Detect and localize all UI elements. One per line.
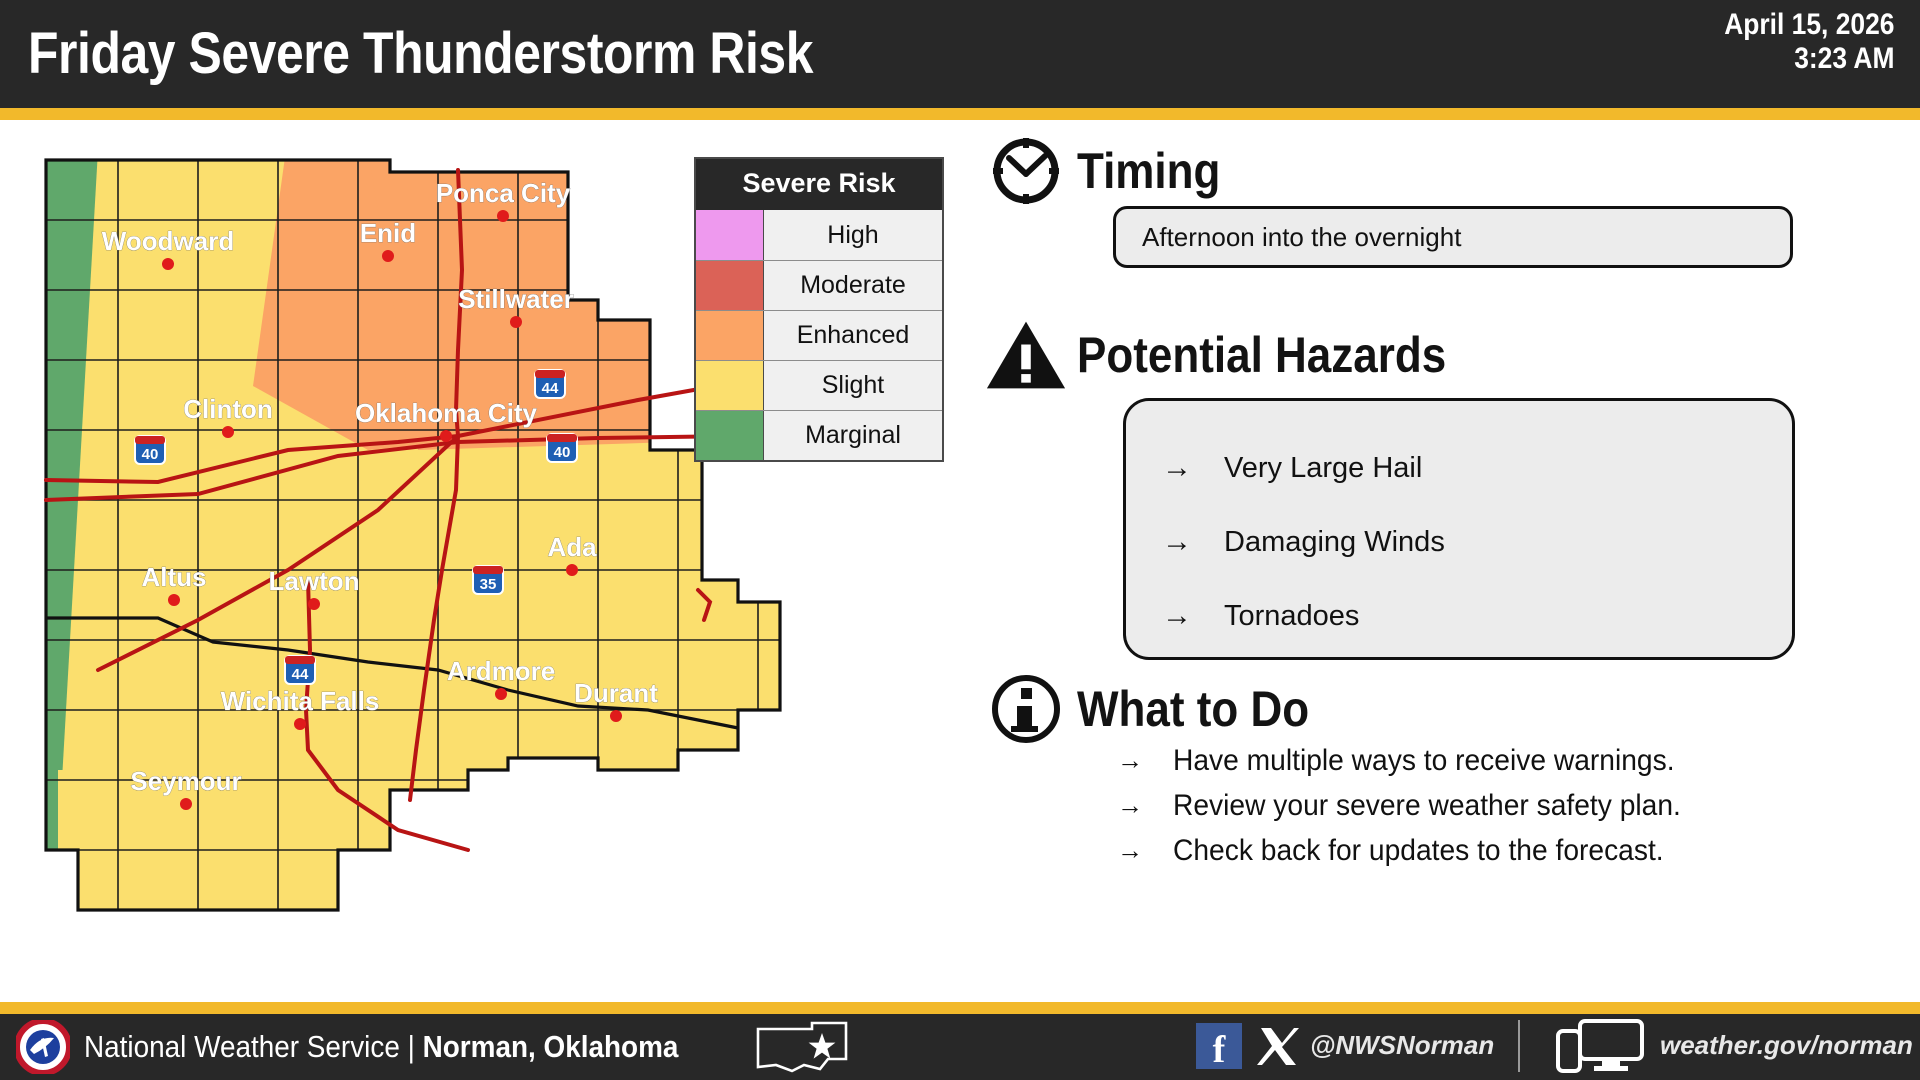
svg-text:44: 44	[292, 666, 309, 683]
clock-icon	[985, 130, 1067, 212]
city-dot	[162, 258, 174, 270]
arrow-icon: →	[1162, 451, 1224, 485]
city-label: Stillwater	[458, 284, 574, 314]
legend-row: Enhanced	[696, 310, 942, 360]
arrow-icon: →	[1162, 525, 1224, 559]
svg-text:40: 40	[554, 444, 571, 461]
header-bar: Friday Severe Thunderstorm Risk April 15…	[0, 0, 1920, 108]
oklahoma-outline-icon	[754, 1021, 850, 1073]
weather-graphic-page: Friday Severe Thunderstorm Risk April 15…	[0, 0, 1920, 1080]
legend-swatch	[696, 411, 764, 460]
city-label: Ardmore	[447, 656, 555, 686]
city-label: Clinton	[183, 394, 273, 424]
website-url[interactable]: weather.gov/norman	[1660, 1030, 1913, 1061]
city-label: Ada	[547, 532, 597, 562]
city-dot	[222, 426, 234, 438]
city-label: Lawton	[269, 566, 360, 596]
legend-rows: HighModerateEnhancedSlightMarginal	[696, 210, 942, 460]
footer-office: Norman, Oklahoma	[423, 1029, 679, 1064]
timing-value: Afternoon into the overnight	[1116, 222, 1461, 253]
hazards-list: →Very Large Hail→Damaging Winds→Tornadoe…	[1126, 431, 1792, 653]
legend-swatch	[696, 261, 764, 310]
gold-accent-bar-bottom	[0, 1002, 1920, 1014]
city-label: Ponca City	[436, 178, 571, 208]
legend-label: Moderate	[764, 261, 942, 310]
gold-accent-bar-top	[0, 108, 1920, 120]
hazard-item: →Tornadoes	[1126, 579, 1792, 653]
todo-item: →Review your severe weather safety plan.	[1117, 783, 1895, 828]
timing-heading: Timing	[1077, 146, 1220, 196]
svg-text:40: 40	[142, 446, 159, 463]
whattodo-list: →Have multiple ways to receive warnings.…	[1117, 738, 1895, 873]
legend-row: High	[696, 210, 942, 260]
todo-label: Check back for updates to the forecast.	[1173, 834, 1664, 868]
legend-row: Marginal	[696, 410, 942, 460]
legend-label: Marginal	[764, 411, 942, 460]
legend-swatch	[696, 311, 764, 360]
city-label: Wichita Falls	[221, 686, 380, 716]
hazards-section-header: Potential Hazards	[985, 314, 1895, 396]
facebook-icon[interactable]: f	[1196, 1023, 1242, 1069]
devices-icon	[1556, 1019, 1648, 1073]
city-dot	[497, 210, 509, 222]
city-dot	[168, 594, 180, 606]
nws-logo-icon	[16, 1020, 70, 1074]
arrow-icon: →	[1162, 599, 1224, 633]
legend-severe-risk: Severe Risk HighModerateEnhancedSlightMa…	[694, 157, 944, 462]
hazard-item: →Very Large Hail	[1126, 431, 1792, 505]
arrow-icon: →	[1117, 745, 1173, 776]
city-dot	[308, 598, 320, 610]
city-label: Durant	[574, 678, 658, 708]
arrow-icon: →	[1117, 790, 1173, 821]
info-panel: Timing Afternoon into the overnight Pote…	[985, 130, 1895, 990]
timing-callout: Afternoon into the overnight	[1113, 206, 1793, 268]
footer-office-text: National Weather Service | Norman, Oklah…	[84, 1029, 678, 1065]
todo-item: →Have multiple ways to receive warnings.	[1117, 738, 1895, 783]
x-twitter-icon[interactable]	[1256, 1024, 1300, 1068]
footer-divider	[1518, 1020, 1520, 1072]
city-label: Oklahoma City	[355, 398, 538, 428]
hazard-label: Tornadoes	[1224, 600, 1359, 633]
city-dot	[382, 250, 394, 262]
legend-label: High	[764, 210, 942, 260]
timing-section-header: Timing	[985, 130, 1895, 212]
facebook-glyph: f	[1213, 1031, 1226, 1069]
todo-label: Review your severe weather safety plan.	[1173, 789, 1681, 823]
whattodo-heading: What to Do	[1077, 684, 1309, 734]
city-label: Altus	[142, 562, 207, 592]
city-label: Seymour	[130, 766, 241, 796]
warning-triangle-icon	[985, 314, 1067, 396]
city-dot	[180, 798, 192, 810]
page-title: Friday Severe Thunderstorm Risk	[28, 25, 813, 83]
arrow-icon: →	[1117, 835, 1173, 866]
header-time: 3:23 AM	[1724, 42, 1894, 76]
header-date: April 15, 2026	[1724, 8, 1894, 42]
city-dot	[610, 710, 622, 722]
legend-row: Moderate	[696, 260, 942, 310]
hazards-callout: →Very Large Hail→Damaging Winds→Tornadoe…	[1123, 398, 1795, 660]
legend-swatch	[696, 210, 764, 260]
legend-title: Severe Risk	[696, 159, 942, 210]
city-dot	[495, 688, 507, 700]
svg-text:35: 35	[480, 576, 497, 593]
city-dot	[510, 316, 522, 328]
city-label: Woodward	[102, 226, 234, 256]
header-datetime: April 15, 2026 3:23 AM	[1701, 8, 1894, 75]
city-dot	[294, 718, 306, 730]
info-circle-icon	[985, 668, 1067, 750]
legend-label: Enhanced	[764, 311, 942, 360]
city-dot	[566, 564, 578, 576]
svg-text:44: 44	[542, 380, 559, 397]
legend-row: Slight	[696, 360, 942, 410]
legend-swatch	[696, 361, 764, 410]
hazard-item: →Damaging Winds	[1126, 505, 1792, 579]
footer-org: National Weather Service |	[84, 1029, 423, 1064]
todo-label: Have multiple ways to receive warnings.	[1173, 744, 1675, 778]
city-label: Enid	[360, 218, 416, 248]
city-dot	[440, 430, 452, 442]
hazards-heading: Potential Hazards	[1077, 330, 1446, 380]
legend-label: Slight	[764, 361, 942, 410]
hazard-label: Very Large Hail	[1224, 452, 1422, 485]
todo-item: →Check back for updates to the forecast.	[1117, 828, 1895, 873]
social-handle[interactable]: @NWSNorman	[1310, 1030, 1494, 1061]
hazard-label: Damaging Winds	[1224, 526, 1445, 559]
